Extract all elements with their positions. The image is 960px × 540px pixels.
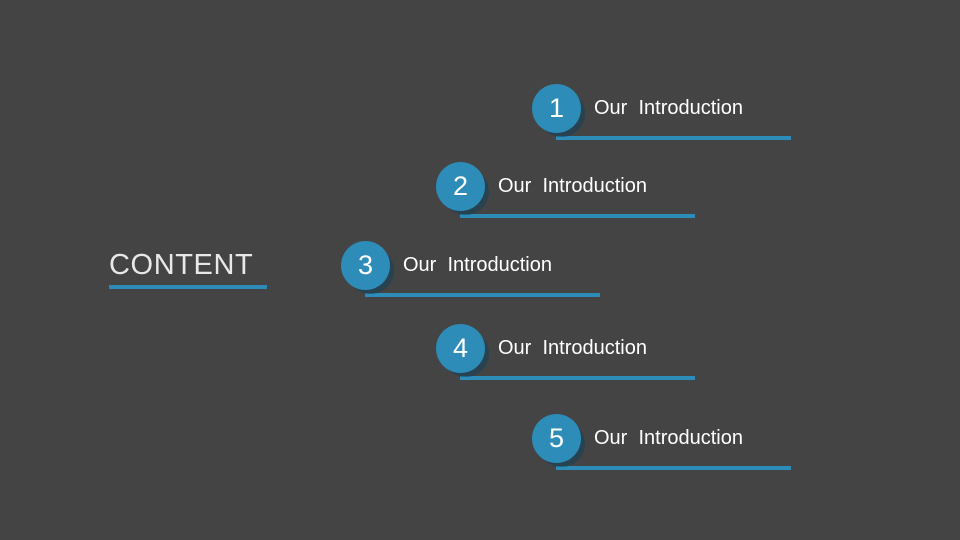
agenda-item-rule (460, 214, 695, 218)
page-title: CONTENT (109, 248, 267, 282)
agenda-item-label: Our Introduction (594, 424, 743, 452)
agenda-item-label: Our Introduction (498, 172, 647, 200)
agenda-item-label: Our Introduction (594, 94, 743, 122)
agenda-item-number: 5 (532, 414, 581, 463)
title-underline (109, 285, 267, 289)
agenda-item-rule (460, 376, 695, 380)
agenda-item-rule (365, 293, 600, 297)
agenda-item-number: 1 (532, 84, 581, 133)
agenda-item-label: Our Introduction (403, 251, 552, 279)
slide-canvas: CONTENT 1Our Introduction2Our Introducti… (0, 0, 960, 540)
agenda-item-number: 4 (436, 324, 485, 373)
content-heading: CONTENT (109, 248, 267, 289)
agenda-item-number: 2 (436, 162, 485, 211)
agenda-item-number: 3 (341, 241, 390, 290)
agenda-item-rule (556, 466, 791, 470)
agenda-item-label: Our Introduction (498, 334, 647, 362)
agenda-item-rule (556, 136, 791, 140)
